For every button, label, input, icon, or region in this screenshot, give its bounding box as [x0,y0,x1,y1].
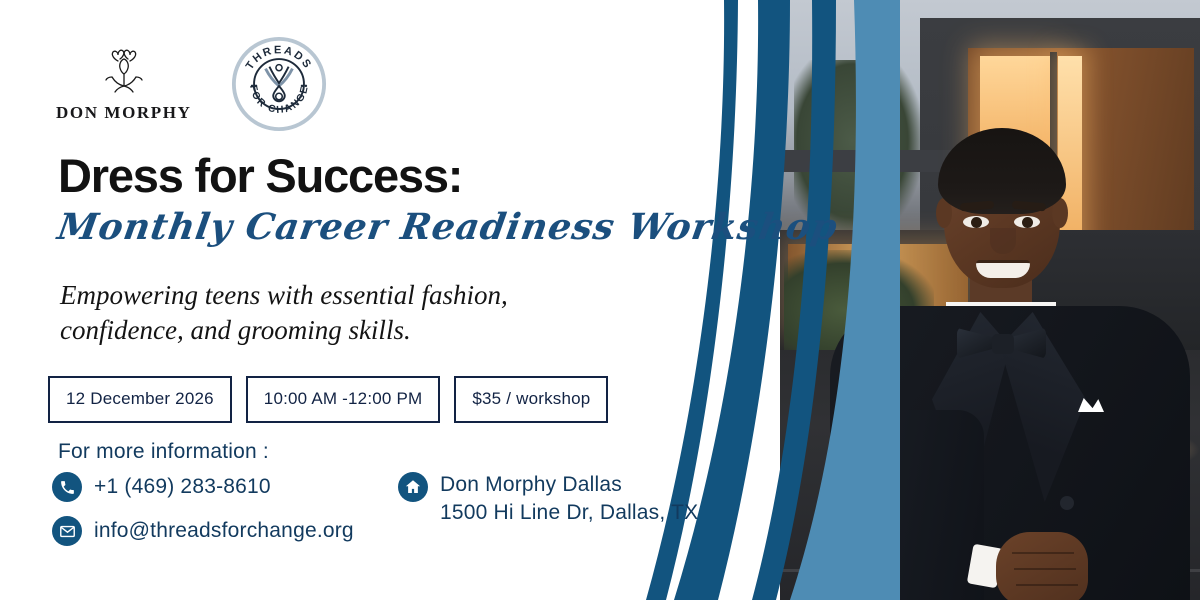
venue-block[interactable]: Don Morphy Dallas 1500 Hi Line Dr, Dalla… [398,472,698,526]
phone-icon [52,472,82,502]
threads-badge-icon: THREADS FOR CHANGE [231,36,327,132]
price-chip: $35 / workshop [454,376,608,423]
pupil-left [971,217,982,228]
envelope-icon [52,516,82,546]
contact-list: +1 (469) 283-8610 info@threadsforchange.… [52,472,354,546]
hand [996,532,1088,600]
email-address: info@threadsforchange.org [94,519,354,543]
don-morphy-wordmark: DON MORPHY [56,103,191,123]
event-flyer: DON MORPHY THREADS FOR CHANGE [0,0,1200,600]
arm [834,410,984,600]
phone-number: +1 (469) 283-8610 [94,475,271,499]
phone-row[interactable]: +1 (469) 283-8610 [52,472,354,502]
jacket-button-upper-right [1060,496,1074,510]
nose [990,228,1016,254]
date-chip: 12 December 2026 [48,376,232,423]
page-title: Dress for Success: [58,148,462,203]
venue-lines: Don Morphy Dallas 1500 Hi Line Dr, Dalla… [440,472,698,526]
email-row[interactable]: info@threadsforchange.org [52,516,354,546]
smile [976,260,1030,278]
finger-crease [1016,584,1078,586]
detail-chip-row: 12 December 2026 10:00 AM -12:00 PM $35 … [48,376,608,423]
finger-crease [1012,552,1074,554]
tagline: Empowering teens with essential fashion,… [60,278,620,348]
page-subtitle: Monthly Career Readiness Workshop [55,206,841,248]
pupil-right [1022,217,1033,228]
person-figure [820,80,1200,600]
logo-row: DON MORPHY THREADS FOR CHANGE [56,36,327,132]
bowtie-knot [992,334,1014,354]
don-morphy-logo: DON MORPHY [56,45,191,123]
fleur-crest-icon [96,45,152,97]
finger-crease [1014,568,1076,570]
contact-heading: For more information : [58,440,269,464]
content-panel: DON MORPHY THREADS FOR CHANGE [0,0,700,600]
hero-photo [780,0,1200,600]
home-icon [398,472,428,502]
hair [938,128,1066,214]
time-chip: 10:00 AM -12:00 PM [246,376,441,423]
venue-address: 1500 Hi Line Dr, Dallas, TX [440,500,698,526]
venue-name: Don Morphy Dallas [440,472,698,498]
